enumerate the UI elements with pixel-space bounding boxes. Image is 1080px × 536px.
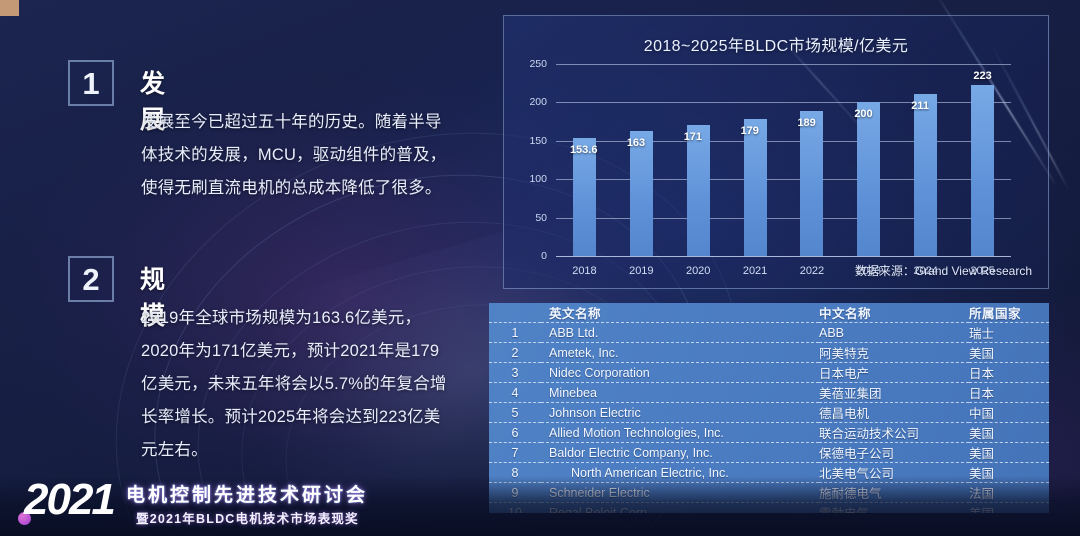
table-cell-chinese-name: 日本电产 [819,363,969,383]
table-cell-chinese-name: 阿美特克 [819,343,969,363]
table-cell-index: 4 [489,383,541,403]
chart-plot-area: 050100150200250153.620181632019171202017… [556,64,1011,256]
chart-x-tick-label: 2022 [800,265,824,277]
table-cell-english-name: Johnson Electric [541,403,819,423]
chart-y-tick-label: 250 [529,58,547,70]
section-number-1: 1 [82,68,99,99]
table-cell-chinese-name: 美蓓亚集团 [819,383,969,403]
chart-bar: 153.6 [573,138,596,256]
chart-bar-value-label: 179 [741,125,759,137]
table-cell-english-name: ABB Ltd. [541,323,819,343]
logo-year: 2021 [24,478,114,522]
table-column-header: 英文名称 [541,303,819,323]
chart-bar-value-label: 223 [973,70,991,82]
table-cell-chinese-name: 保德电子公司 [819,443,969,463]
section-body-2: 2019年全球市场规模为163.6亿美元，2020年为171亿美元，预计2021… [141,302,453,467]
table-cell-chinese-name: ABB [819,323,969,343]
table-cell-english-name: Allied Motion Technologies, Inc. [541,423,819,443]
table-row[interactable]: 4Minebea美蓓亚集团日本 [489,383,1049,403]
chart-bar: 223 [971,85,994,256]
table-cell-index: 1 [489,323,541,343]
table-column-header [489,303,541,323]
chart-bar: 171 [687,125,710,256]
table-cell-index: 7 [489,443,541,463]
chart-bar: 189 [800,111,823,256]
chart-x-tick-label: 2019 [629,265,653,277]
table-cell-english-name: Baldor Electric Company, Inc. [541,443,819,463]
section-number-badge-1: 1 [68,60,114,106]
table-cell-chinese-name: 联合运动技术公司 [819,423,969,443]
chart-y-tick-label: 50 [535,212,547,224]
chart-bar-value-label: 189 [797,117,815,129]
chart-bar: 163 [630,131,653,256]
chart-x-tick-label: 2018 [572,265,596,277]
section-body-1: 发展至今已超过五十年的历史。随着半导体技术的发展，MCU，驱动组件的普及，使得无… [141,106,451,205]
table-cell-english-name: Minebea [541,383,819,403]
chart-x-tick-label: 2021 [743,265,767,277]
chart-y-tick-label: 150 [529,135,547,147]
chart-gridline: 200 [556,102,1011,103]
chart-bar-value-label: 200 [854,108,872,120]
table-column-header: 中文名称 [819,303,969,323]
section-number-2: 2 [82,264,99,295]
table-cell-index: 5 [489,403,541,423]
table-cell-country: 日本 [969,363,1049,383]
table-row[interactable]: 2Ametek, Inc.阿美特克美国 [489,343,1049,363]
table-row[interactable]: 5Johnson Electric德昌电机中国 [489,403,1049,423]
chart-bar-value-label: 211 [911,100,929,112]
table-column-header: 所属国家 [969,303,1049,323]
corner-chip [0,0,19,16]
table-cell-country: 美国 [969,423,1049,443]
table-cell-english-name: Nidec Corporation [541,363,819,383]
bldc-market-size-chart: 2018~2025年BLDC市场规模/亿美元 05010015020025015… [503,15,1049,289]
table-cell-country: 美国 [969,443,1049,463]
chart-gridline: 100 [556,179,1011,180]
chart-bar: 200 [857,102,880,256]
section-number-badge-2: 2 [68,256,114,302]
table-cell-chinese-name: 德昌电机 [819,403,969,423]
table-row[interactable]: 1ABB Ltd.ABB瑞士 [489,323,1049,343]
table-cell-index: 3 [489,363,541,383]
chart-bar-value-label: 171 [684,131,702,143]
chart-bar-value-label: 163 [627,137,645,149]
table-cell-country: 瑞士 [969,323,1049,343]
chart-bar-value-label: 153.6 [570,144,598,156]
table-cell-country: 美国 [969,343,1049,363]
chart-bar: 211 [914,94,937,256]
conference-title: 电机控制先进技术研讨会 [126,480,368,507]
table-cell-country: 中国 [969,403,1049,423]
chart-gridline: 50 [556,218,1011,219]
chart-x-tick-label: 2020 [686,265,710,277]
table-cell-english-name: Ametek, Inc. [541,343,819,363]
chart-source-note: 数据来源：Grand View Research [855,262,1032,279]
chart-axis-baseline [556,256,1011,257]
chart-gridline: 150 [556,141,1011,142]
chart-gridline: 250 [556,64,1011,65]
slide-canvas: 1 发展 发展至今已超过五十年的历史。随着半导体技术的发展，MCU，驱动组件的普… [0,0,1080,536]
chart-y-tick-label: 200 [529,96,547,108]
table-cell-index: 2 [489,343,541,363]
table-row[interactable]: 3Nidec Corporation日本电产日本 [489,363,1049,383]
chart-y-tick-label: 0 [541,250,547,262]
table-cell-country: 日本 [969,383,1049,403]
conference-subtitle: 暨2021年BLDC电机技术市场表现奖 [136,508,359,527]
table-cell-index: 6 [489,423,541,443]
chart-title: 2018~2025年BLDC市场规模/亿美元 [504,32,1048,56]
table-row[interactable]: 7Baldor Electric Company, Inc.保德电子公司美国 [489,443,1049,463]
table-header-row: 英文名称中文名称所属国家 [489,303,1049,323]
table-row[interactable]: 6Allied Motion Technologies, Inc.联合运动技术公… [489,423,1049,443]
chart-bar: 179 [744,119,767,256]
conference-logo: 2021 电机控制先进技术研讨会 暨2021年BLDC电机技术市场表现奖 [18,468,378,530]
chart-y-tick-label: 100 [529,173,547,185]
